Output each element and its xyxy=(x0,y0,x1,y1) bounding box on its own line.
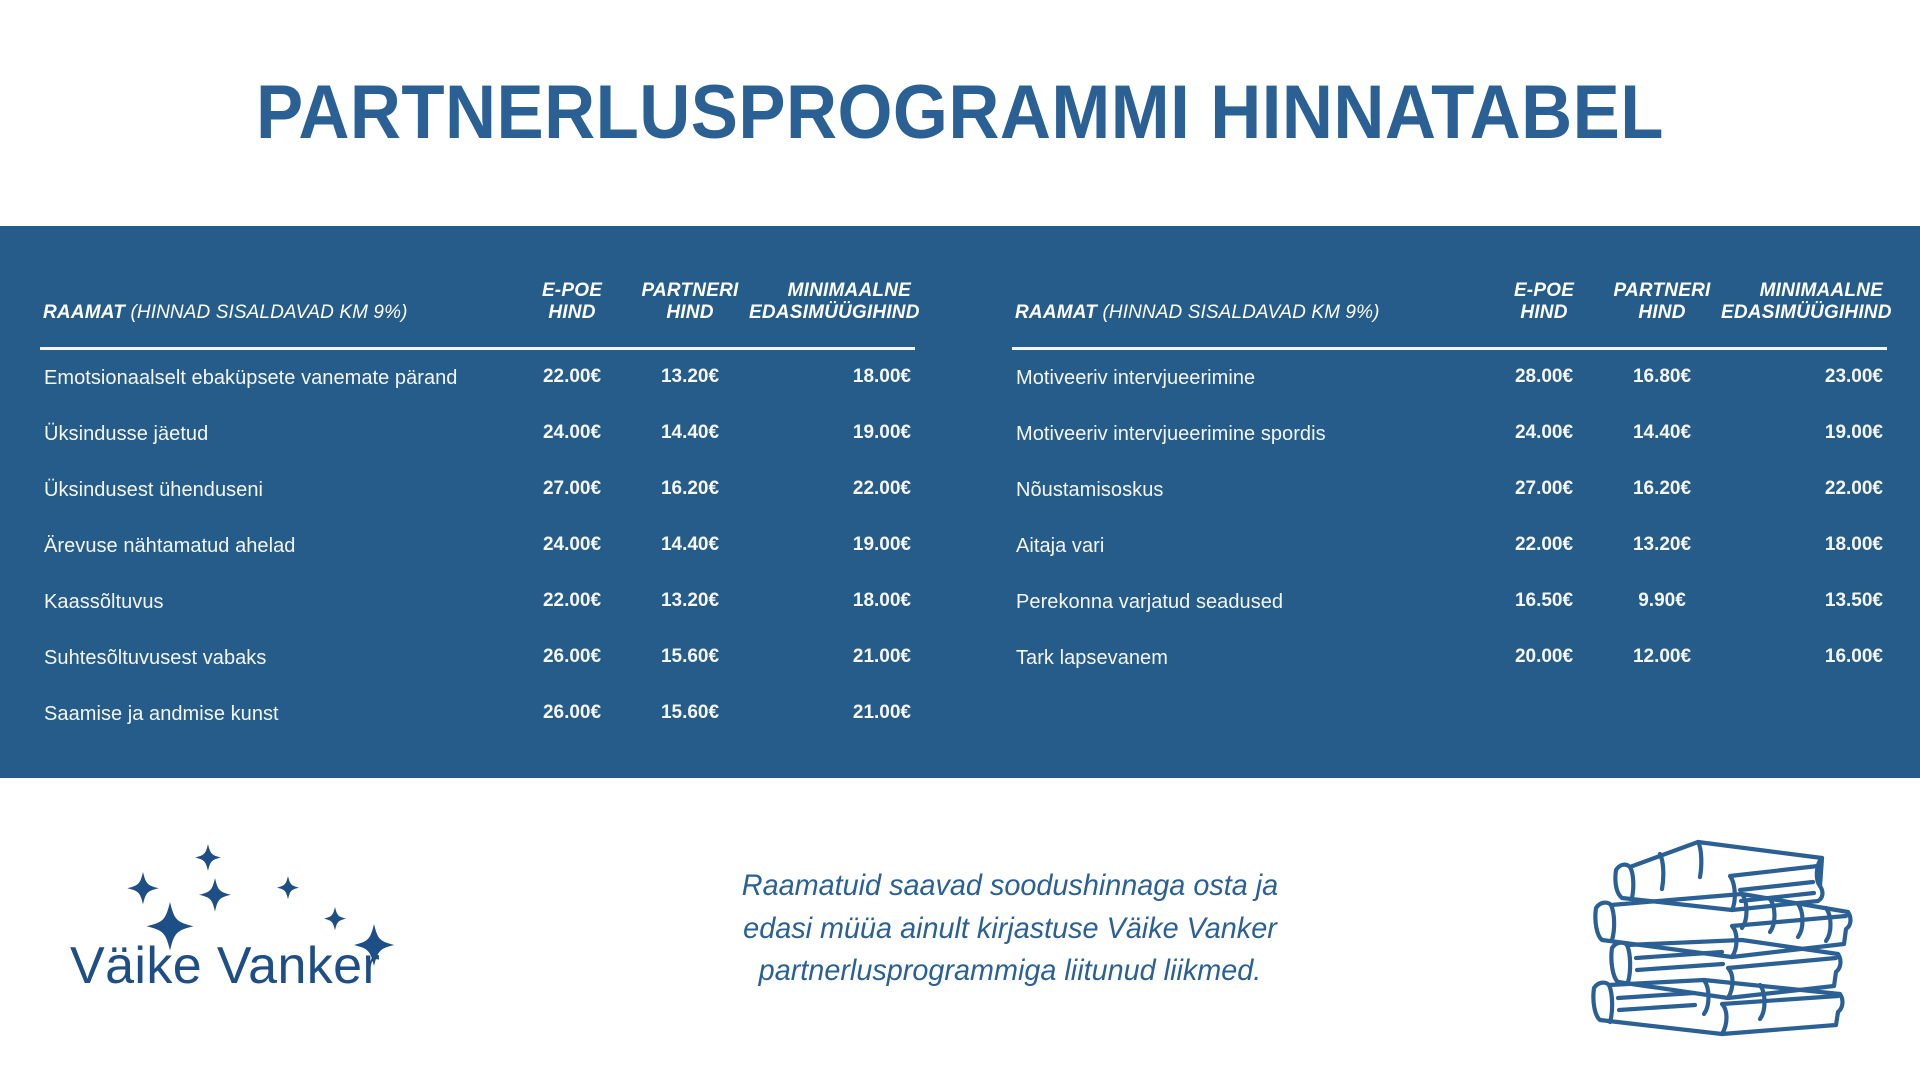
cell-min-resale-price: 23.00€ xyxy=(1721,350,1887,406)
table-row: Kaassõltuvus22.00€13.20€18.00€ xyxy=(40,574,915,630)
price-table-right-block: RAAMAT (HINNAD SISALDAVAD KM 9%) E-POE H… xyxy=(1012,280,1880,778)
column-header-book: RAAMAT (HINNAD SISALDAVAD KM 9%) xyxy=(1012,280,1485,347)
table-row: Suhtesõltuvusest vabaks26.00€15.60€21.00… xyxy=(40,630,915,686)
title-bar: PARTNERLUSPROGRAMMI HINNATABEL xyxy=(0,0,1920,226)
cell-min-resale-price: 16.00€ xyxy=(1721,630,1887,686)
column-header-partner-line1: PARTNERI xyxy=(1603,280,1721,302)
cell-eshop-price: 24.00€ xyxy=(1485,406,1603,462)
cell-book-title: Emotsionaalselt ebaküpsete vanemate pära… xyxy=(40,350,513,406)
cell-partner-price: 15.60€ xyxy=(631,630,749,686)
cell-eshop-price: 28.00€ xyxy=(1485,350,1603,406)
cell-eshop-price: 22.00€ xyxy=(513,350,631,406)
table-body-left: Emotsionaalselt ebaküpsete vanemate pära… xyxy=(40,350,915,742)
column-header-min-line2: EDASIMÜÜGIHIND xyxy=(749,302,911,324)
column-header-eshop-line1: E-POE xyxy=(513,280,631,302)
column-header-partner-line1: PARTNERI xyxy=(631,280,749,302)
cell-book-title: Suhtesõltuvusest vabaks xyxy=(40,630,513,686)
table-row: Üksindusest ühenduseni27.00€16.20€22.00€ xyxy=(40,462,915,518)
table-row: Aitaja vari22.00€13.20€18.00€ xyxy=(1012,518,1887,574)
table-row: Tark lapsevanem20.00€12.00€16.00€ xyxy=(1012,630,1887,686)
header-row: RAAMAT (HINNAD SISALDAVAD KM 9%) E-POE H… xyxy=(1012,280,1887,347)
cell-min-resale-price: 22.00€ xyxy=(1721,462,1887,518)
cell-min-resale-price: 21.00€ xyxy=(749,686,915,742)
column-header-eshop-line2: HIND xyxy=(1485,302,1603,324)
column-header-book-main: RAAMAT xyxy=(43,302,125,323)
table-row: Nõustamisoskus27.00€16.20€22.00€ xyxy=(1012,462,1887,518)
column-header-min-line1: MINIMAALNE xyxy=(749,280,911,302)
cell-book-title: Üksindusse jäetud xyxy=(40,406,513,462)
table-row: Saamise ja andmise kunst26.00€15.60€21.0… xyxy=(40,686,915,742)
table-head-right: RAAMAT (HINNAD SISALDAVAD KM 9%) E-POE H… xyxy=(1012,280,1887,350)
cell-partner-price: 15.60€ xyxy=(631,686,749,742)
cell-eshop-price: 27.00€ xyxy=(1485,462,1603,518)
pricing-panel: RAAMAT (HINNAD SISALDAVAD KM 9%) E-POE H… xyxy=(0,226,1920,778)
column-header-eshop-price: E-POE HIND xyxy=(513,280,631,347)
cell-book-title: Perekonna varjatud seadused xyxy=(1012,574,1485,630)
cell-partner-price: 9.90€ xyxy=(1603,574,1721,630)
column-header-partner-line2: HIND xyxy=(1603,302,1721,324)
cell-partner-price: 13.20€ xyxy=(1603,518,1721,574)
column-header-min-line1: MINIMAALNE xyxy=(1721,280,1883,302)
cell-book-title: Tark lapsevanem xyxy=(1012,630,1485,686)
cell-min-resale-price: 13.50€ xyxy=(1721,574,1887,630)
cell-partner-price: 16.80€ xyxy=(1603,350,1721,406)
cell-book-title: Ärevuse nähtamatud ahelad xyxy=(40,518,513,574)
cell-eshop-price: 26.00€ xyxy=(513,686,631,742)
cell-min-resale-price: 19.00€ xyxy=(749,518,915,574)
cell-min-resale-price: 19.00€ xyxy=(749,406,915,462)
column-header-partner-price: PARTNERI HIND xyxy=(631,280,749,347)
column-header-eshop-line1: E-POE xyxy=(1485,280,1603,302)
cell-eshop-price: 24.00€ xyxy=(513,518,631,574)
tables-container: RAAMAT (HINNAD SISALDAVAD KM 9%) E-POE H… xyxy=(0,226,1920,778)
column-header-book-note: (HINNAD SISALDAVAD KM 9%) xyxy=(1097,302,1379,323)
header-row: RAAMAT (HINNAD SISALDAVAD KM 9%) E-POE H… xyxy=(40,280,915,347)
price-table-right: RAAMAT (HINNAD SISALDAVAD KM 9%) E-POE H… xyxy=(1012,280,1887,686)
cell-partner-price: 16.20€ xyxy=(631,462,749,518)
cell-min-resale-price: 21.00€ xyxy=(749,630,915,686)
cell-eshop-price: 22.00€ xyxy=(1485,518,1603,574)
column-header-book-note: (HINNAD SISALDAVAD KM 9%) xyxy=(125,302,407,323)
cell-min-resale-price: 19.00€ xyxy=(1721,406,1887,462)
table-row: Motiveeriv intervjueerimine28.00€16.80€2… xyxy=(1012,350,1887,406)
column-header-min-line2: EDASIMÜÜGIHIND xyxy=(1721,302,1883,324)
book-stack-icon xyxy=(1582,822,1872,1037)
cell-book-title: Aitaja vari xyxy=(1012,518,1485,574)
tagline: Raamatuid saavad soodushinnaga osta ja e… xyxy=(712,865,1307,993)
cell-book-title: Kaassõltuvus xyxy=(40,574,513,630)
cell-book-title: Motiveeriv intervjueerimine xyxy=(1012,350,1485,406)
table-row: Emotsionaalselt ebaküpsete vanemate pära… xyxy=(40,350,915,406)
cell-eshop-price: 27.00€ xyxy=(513,462,631,518)
cell-partner-price: 14.40€ xyxy=(1603,406,1721,462)
table-body-right: Motiveeriv intervjueerimine28.00€16.80€2… xyxy=(1012,350,1887,686)
cell-eshop-price: 24.00€ xyxy=(513,406,631,462)
footer: Väike Vanker Raamatuid saavad soodushinn… xyxy=(0,778,1920,1080)
page-title: PARTNERLUSPROGRAMMI HINNATABEL xyxy=(256,75,1664,151)
cell-min-resale-price: 18.00€ xyxy=(1721,518,1887,574)
table-row: Motiveeriv intervjueerimine spordis24.00… xyxy=(1012,406,1887,462)
cell-eshop-price: 22.00€ xyxy=(513,574,631,630)
column-header-partner-line2: HIND xyxy=(631,302,749,324)
brand-logo: Väike Vanker xyxy=(48,814,448,1044)
cell-partner-price: 14.40€ xyxy=(631,406,749,462)
cell-partner-price: 14.40€ xyxy=(631,518,749,574)
price-table-left-block: RAAMAT (HINNAD SISALDAVAD KM 9%) E-POE H… xyxy=(40,280,908,778)
column-header-book-main: RAAMAT xyxy=(1015,302,1097,323)
cell-partner-price: 13.20€ xyxy=(631,574,749,630)
column-header-partner-price: PARTNERI HIND xyxy=(1603,280,1721,347)
table-row: Üksindusse jäetud24.00€14.40€19.00€ xyxy=(40,406,915,462)
column-header-min-resale-price: MINIMAALNE EDASIMÜÜGIHIND xyxy=(1721,280,1887,347)
cell-partner-price: 13.20€ xyxy=(631,350,749,406)
book-stack-illustration xyxy=(1572,819,1872,1039)
cell-min-resale-price: 18.00€ xyxy=(749,574,915,630)
cell-partner-price: 12.00€ xyxy=(1603,630,1721,686)
cell-partner-price: 16.20€ xyxy=(1603,462,1721,518)
cell-eshop-price: 20.00€ xyxy=(1485,630,1603,686)
cell-eshop-price: 26.00€ xyxy=(513,630,631,686)
cell-book-title: Motiveeriv intervjueerimine spordis xyxy=(1012,406,1485,462)
tagline-line-2: edasi müüa ainult kirjastuse Väike Vanke… xyxy=(712,908,1307,951)
column-header-min-resale-price: MINIMAALNE EDASIMÜÜGIHIND xyxy=(749,280,915,347)
brand-name: Väike Vanker xyxy=(70,936,380,996)
cell-min-resale-price: 18.00€ xyxy=(749,350,915,406)
table-row: Ärevuse nähtamatud ahelad24.00€14.40€19.… xyxy=(40,518,915,574)
tagline-line-1: Raamatuid saavad soodushinnaga osta ja xyxy=(712,865,1307,908)
table-row: Perekonna varjatud seadused16.50€9.90€13… xyxy=(1012,574,1887,630)
cell-eshop-price: 16.50€ xyxy=(1485,574,1603,630)
column-header-eshop-line2: HIND xyxy=(513,302,631,324)
pricing-table-poster: PARTNERLUSPROGRAMMI HINNATABEL RAAMAT (H… xyxy=(0,0,1920,1080)
cell-book-title: Nõustamisoskus xyxy=(1012,462,1485,518)
cell-book-title: Üksindusest ühenduseni xyxy=(40,462,513,518)
cell-book-title: Saamise ja andmise kunst xyxy=(40,686,513,742)
sparkle-stars-icon xyxy=(48,814,448,1044)
cell-min-resale-price: 22.00€ xyxy=(749,462,915,518)
tagline-line-3: partnerlusprogrammiga liitunud liikmed. xyxy=(712,950,1307,993)
price-table-left: RAAMAT (HINNAD SISALDAVAD KM 9%) E-POE H… xyxy=(40,280,915,742)
table-head-left: RAAMAT (HINNAD SISALDAVAD KM 9%) E-POE H… xyxy=(40,280,915,350)
column-header-book: RAAMAT (HINNAD SISALDAVAD KM 9%) xyxy=(40,280,513,347)
column-header-eshop-price: E-POE HIND xyxy=(1485,280,1603,347)
